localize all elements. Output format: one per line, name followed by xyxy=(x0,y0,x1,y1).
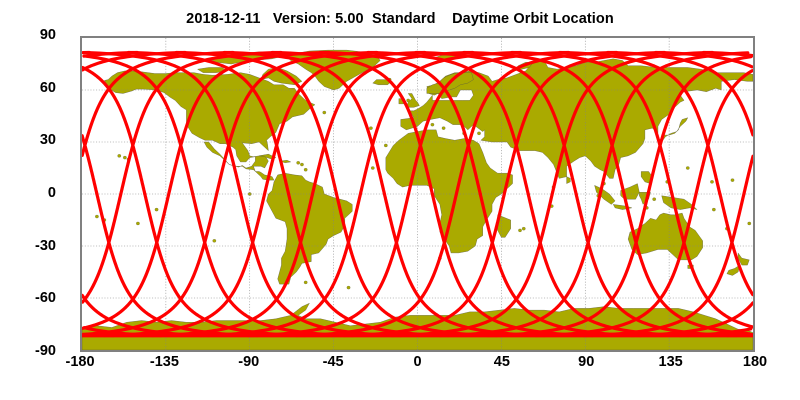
y-tick-0: 0 xyxy=(48,186,56,201)
orbit-track-2-seg-3 xyxy=(145,194,305,336)
orbit-track-13-seg-0 xyxy=(560,52,720,194)
orbit-track-7-seg-1 xyxy=(82,52,233,155)
orbit-track-6-seg-3 xyxy=(337,194,497,336)
y-tick-90: 90 xyxy=(40,28,56,43)
orbit-track-5-seg-0 xyxy=(176,52,336,194)
orbit-location-figure: 2018-12-11 Version: 5.00 Standard Daytim… xyxy=(0,0,800,400)
orbit-ground-tracks xyxy=(82,38,753,350)
x-tick--45: -45 xyxy=(303,355,363,370)
x-tick-180: 180 xyxy=(725,355,785,370)
x-tick--135: -135 xyxy=(134,355,194,370)
plot-area xyxy=(80,36,755,352)
y-tick--30: -30 xyxy=(35,239,56,254)
orbit-track-7-seg-0 xyxy=(272,52,432,194)
orbit-track-8-seg-3 xyxy=(432,194,592,336)
x-tick-45: 45 xyxy=(472,355,532,370)
orbit-track-6-seg-0 xyxy=(224,52,384,194)
orbit-track-9-seg-1 xyxy=(83,52,329,328)
orbit-track-7-seg-3 xyxy=(384,194,544,336)
orbit-track-3-seg-2 xyxy=(193,194,353,336)
chart-title: 2018-12-11 Version: 5.00 Standard Daytim… xyxy=(0,11,800,27)
orbit-track-10-seg-3 xyxy=(528,194,688,336)
x-tick--90: -90 xyxy=(219,355,279,370)
orbit-track-9-seg-3 xyxy=(480,194,640,336)
orbit-track-8-seg-0 xyxy=(320,52,480,194)
y-tick-30: 30 xyxy=(40,133,56,148)
orbit-track-12-seg-0 xyxy=(512,52,672,194)
x-tick--180: -180 xyxy=(50,355,110,370)
orbit-track-11-seg-2 xyxy=(576,194,736,336)
map-canvas xyxy=(82,38,753,350)
orbit-track-10-seg-0 xyxy=(416,52,576,194)
orbit-track-11-seg-0 xyxy=(464,52,624,194)
x-tick-0: 0 xyxy=(388,355,448,370)
orbit-track-0-seg-4 xyxy=(720,194,753,295)
x-tick-135: 135 xyxy=(641,355,701,370)
orbit-track-1-seg-3 xyxy=(97,194,257,336)
y-tick--60: -60 xyxy=(35,291,56,306)
orbit-track-5-seg-3 xyxy=(289,194,449,336)
y-tick-60: 60 xyxy=(40,81,56,96)
orbit-track-9-seg-0 xyxy=(368,52,528,194)
orbit-track-4-seg-3 xyxy=(241,194,401,336)
orbit-track-4-seg-0 xyxy=(128,52,288,194)
x-tick-90: 90 xyxy=(556,355,616,370)
